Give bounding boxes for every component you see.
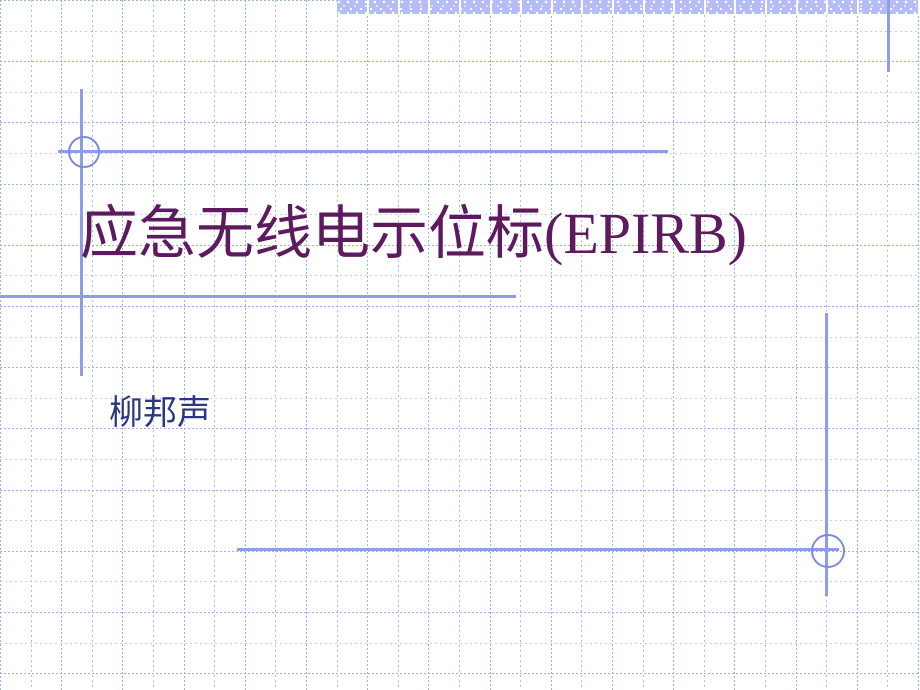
author-subtitle: 柳邦声 (109, 395, 211, 432)
grid-line-vertical (643, 0, 644, 690)
grid-line-vertical (275, 0, 276, 690)
grid-line-vertical (857, 0, 858, 690)
grid-line-vertical (122, 0, 123, 690)
grid-line-vertical (398, 0, 399, 690)
grid-line-vertical (520, 0, 521, 690)
grid-line-horizontal (0, 306, 920, 307)
band-gap (765, 0, 767, 14)
band-gap (581, 0, 583, 14)
grid-line-vertical (551, 0, 552, 690)
grid-line-vertical (367, 0, 368, 690)
grid-line-vertical (704, 0, 705, 690)
grid-line-vertical (92, 0, 93, 690)
rule-upper-horizontal (58, 150, 668, 153)
grid-line-horizontal (0, 184, 920, 185)
band-gap (490, 0, 492, 14)
band-gap (857, 0, 859, 14)
grid-line-vertical (673, 0, 674, 690)
band-gap (643, 0, 645, 14)
grid-line-vertical (612, 0, 613, 690)
top-decorative-band (337, 0, 920, 14)
grid-line-vertical (428, 0, 429, 690)
grid-line-vertical (490, 0, 491, 690)
grid-line-vertical (61, 0, 62, 690)
rule-top-right-edge (887, 0, 890, 72)
grid-line-horizontal (0, 459, 920, 460)
band-gap (367, 0, 369, 14)
grid-line-horizontal (0, 337, 920, 338)
grid-line-vertical (581, 0, 582, 690)
grid-line-vertical (245, 0, 246, 690)
grid-line-horizontal (0, 612, 920, 613)
grid-line-vertical (734, 0, 735, 690)
grid-line-horizontal (0, 520, 920, 521)
grid-line-vertical (306, 0, 307, 690)
grid-line-vertical (918, 0, 919, 690)
rule-lower-horizontal (237, 548, 839, 551)
band-gap (612, 0, 614, 14)
title-slide: 应急无线电示位标(EPIRB) 柳邦声 (0, 0, 920, 690)
grid-line-horizontal (0, 153, 920, 154)
grid-line-vertical (153, 0, 154, 690)
grid-line-horizontal (0, 31, 920, 32)
grid-line-vertical (765, 0, 766, 690)
band-gap (520, 0, 522, 14)
band-gap (398, 0, 400, 14)
grid-line-horizontal (0, 643, 920, 644)
grid-line-vertical (0, 0, 1, 690)
lower-right-ring-icon (811, 534, 845, 568)
grid-line-vertical (459, 0, 460, 690)
grid-line-horizontal (0, 673, 920, 674)
grid-line-vertical (887, 0, 888, 690)
rule-middle-horizontal (0, 295, 516, 298)
grid-line-horizontal (0, 275, 920, 276)
band-gap (673, 0, 675, 14)
grid-line-horizontal (0, 581, 920, 582)
grid-line-horizontal (0, 367, 920, 368)
page-title: 应急无线电示位标(EPIRB) (80, 204, 747, 265)
grid-line-vertical (796, 0, 797, 690)
band-gap (734, 0, 736, 14)
band-gap (826, 0, 828, 14)
grid-line-vertical (214, 0, 215, 690)
grid-line-horizontal (0, 61, 920, 62)
grid-line-vertical (31, 0, 32, 690)
grid-line-horizontal (0, 92, 920, 93)
band-gap (459, 0, 461, 14)
band-gap (428, 0, 430, 14)
band-gap (551, 0, 553, 14)
upper-left-ring-icon (68, 136, 100, 168)
grid-line-vertical (184, 0, 185, 690)
grid-line-horizontal (0, 490, 920, 491)
grid-line-horizontal (0, 122, 920, 123)
band-gap (704, 0, 706, 14)
grid-background (0, 0, 920, 690)
grid-line-horizontal (0, 551, 920, 552)
grid-line-vertical (337, 0, 338, 690)
band-gap (796, 0, 798, 14)
